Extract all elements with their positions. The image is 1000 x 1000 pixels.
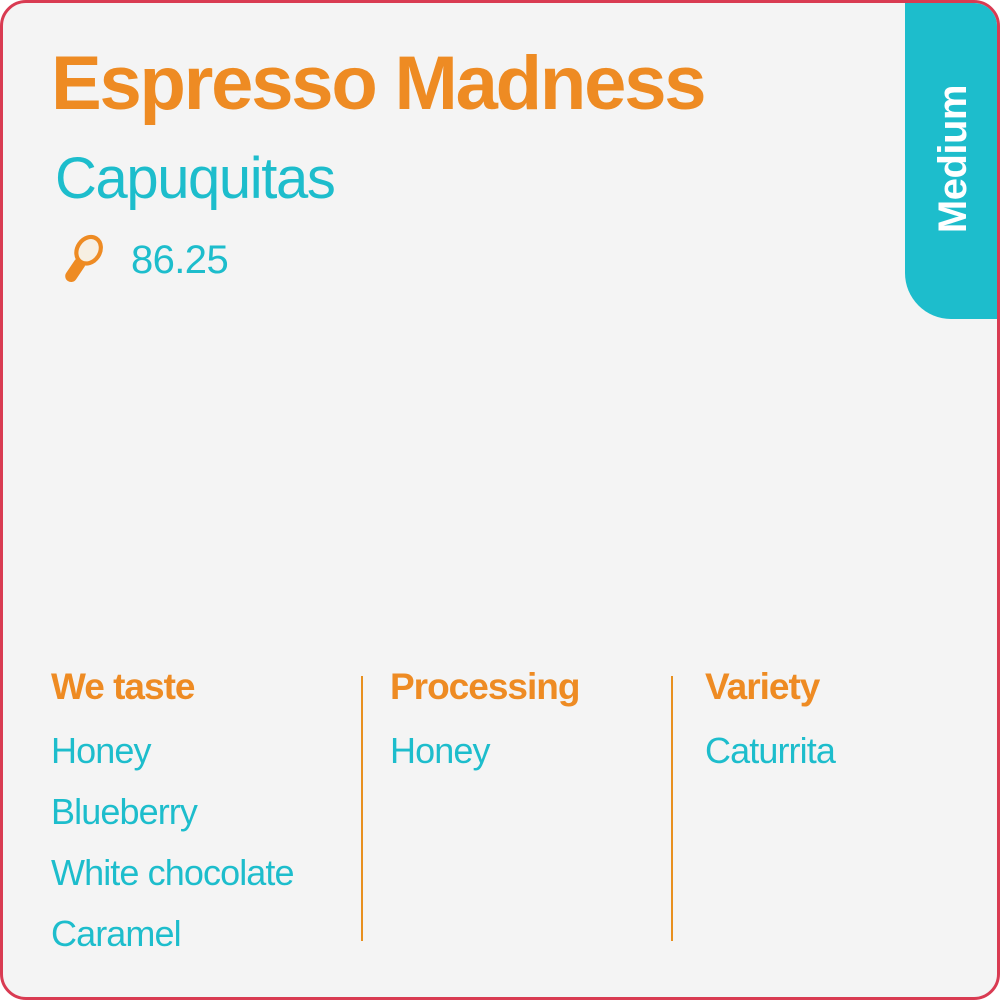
- coffee-product-card: Medium Espresso Madness Capuquitas 86.25…: [0, 0, 1000, 1000]
- detail-item: Caramel: [51, 916, 355, 952]
- detail-item: White chocolate: [51, 855, 355, 891]
- detail-heading-we-taste: We taste: [51, 668, 355, 705]
- roast-level-label: Medium: [933, 85, 973, 233]
- detail-heading-variety: Variety: [705, 668, 971, 705]
- cupping-spoon-icon: [53, 231, 111, 289]
- detail-item: Blueberry: [51, 794, 355, 830]
- detail-item: Honey: [51, 733, 355, 769]
- cupping-score-row: 86.25: [53, 231, 877, 289]
- detail-column-processing: Processing Honey: [361, 668, 671, 949]
- detail-column-variety: Variety Caturrita: [671, 668, 971, 949]
- detail-columns: We taste Honey Blueberry White chocolate…: [51, 668, 951, 949]
- detail-column-we-taste: We taste Honey Blueberry White chocolate…: [51, 668, 361, 949]
- product-subtitle: Capuquitas: [55, 147, 877, 211]
- roast-level-badge: Medium: [905, 0, 1000, 319]
- cupping-score-value: 86.25: [131, 240, 228, 280]
- detail-item: Honey: [390, 733, 671, 769]
- detail-heading-processing: Processing: [390, 668, 671, 705]
- card-header: Espresso Madness Capuquitas 86.25: [51, 43, 877, 289]
- product-title: Espresso Madness: [51, 43, 877, 125]
- detail-item: Caturrita: [705, 733, 971, 769]
